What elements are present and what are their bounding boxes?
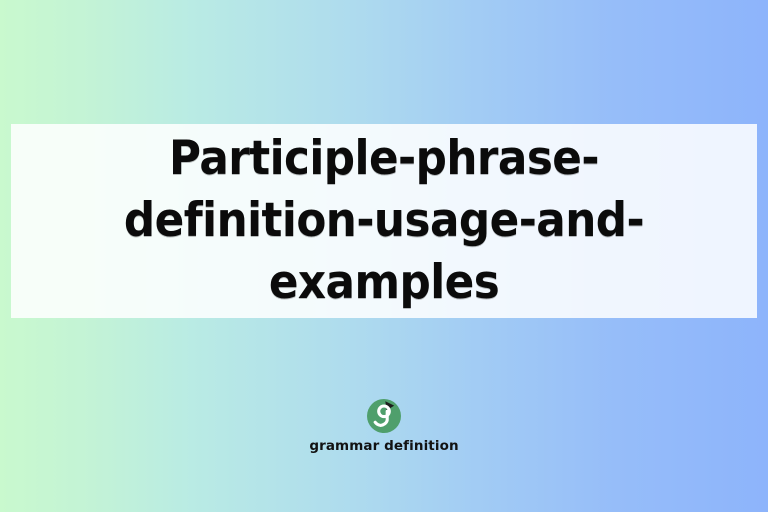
grammar-definition-logo-icon xyxy=(366,398,402,434)
logo-glyph-svg xyxy=(366,398,402,434)
logo-wordmark: grammar definition xyxy=(309,438,458,454)
page-title: Participle-phrase-definition-usage-and-e… xyxy=(50,128,718,314)
brand-logo: grammar definition xyxy=(0,398,768,454)
banner-image: Participle-phrase-definition-usage-and-e… xyxy=(0,0,768,512)
title-card: Participle-phrase-definition-usage-and-e… xyxy=(11,124,757,318)
